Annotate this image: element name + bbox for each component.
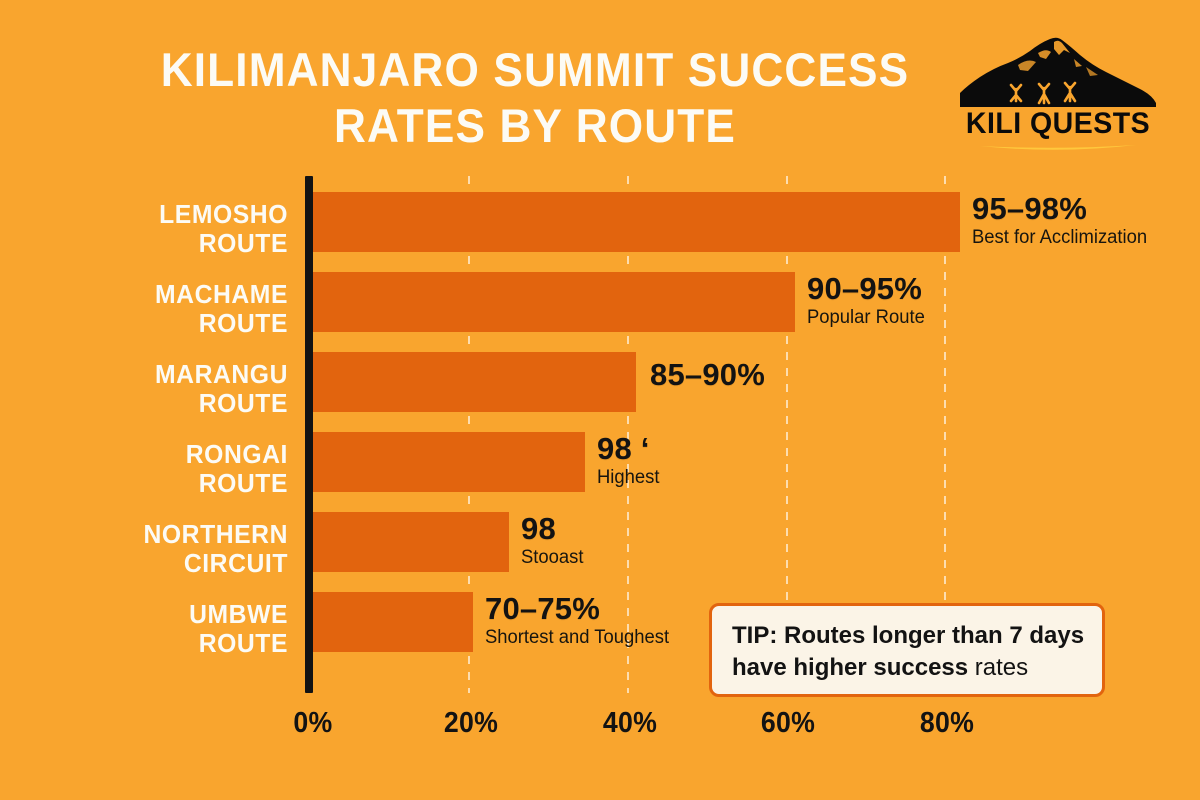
- bar-rongai[interactable]: [313, 432, 585, 492]
- value-sublabel: Popular Route: [807, 306, 925, 329]
- infographic-canvas: KILIMANJARO SUMMIT SUCCESS RATES BY ROUT…: [0, 0, 1200, 800]
- category-label: UMBWE ROUTE: [71, 600, 288, 658]
- value-group: 98 Stooast: [521, 512, 585, 569]
- value-sublabel: Best for Acclimization: [972, 226, 1147, 249]
- bar-machame[interactable]: [313, 272, 795, 332]
- tip-text: TIP: Routes longer than 7 days have high…: [732, 620, 1094, 684]
- value-group: 85–90%: [650, 358, 765, 392]
- xtick-60: 60%: [733, 707, 843, 740]
- value-label: 95–98%: [972, 192, 1153, 226]
- tip-text-tail: rates: [968, 654, 1028, 681]
- bar-marangu[interactable]: [313, 352, 636, 412]
- value-group: 95–98% Best for Acclimization: [972, 192, 1153, 249]
- xtick-40: 40%: [575, 707, 685, 740]
- value-label: 90–95%: [807, 272, 928, 306]
- category-label: MARANGU ROUTE: [71, 360, 288, 418]
- value-label: 85–90%: [650, 358, 765, 392]
- xtick-0: 0%: [258, 707, 368, 740]
- category-label: RONGAI ROUTE: [71, 440, 288, 498]
- category-label: MACHAME ROUTE: [71, 280, 288, 338]
- bar-chart: LEMOSHO ROUTE 95–98% Best for Acclimizat…: [0, 0, 1200, 800]
- value-sublabel: Stooast: [521, 546, 584, 569]
- value-sublabel: Shortest and Toughest: [485, 626, 669, 649]
- xtick-80: 80%: [892, 707, 1002, 740]
- value-group: 70–75% Shortest and Toughest: [485, 592, 675, 649]
- tip-text-strong: TIP: Routes longer than 7 days have high…: [732, 622, 1084, 681]
- tip-callout: TIP: Routes longer than 7 days have high…: [709, 603, 1105, 697]
- category-label: NORTHERN CIRCUIT: [71, 520, 288, 578]
- xtick-20: 20%: [416, 707, 526, 740]
- category-label: LEMOSHO ROUTE: [71, 200, 288, 258]
- value-label: 70–75%: [485, 592, 675, 626]
- value-group: 90–95% Popular Route: [807, 272, 928, 329]
- bar-northern-circuit[interactable]: [313, 512, 509, 572]
- value-label: 98: [521, 512, 585, 546]
- y-axis-line: [305, 176, 313, 693]
- value-sublabel: Highest: [597, 466, 659, 489]
- value-label: 98 ‘: [597, 432, 661, 466]
- value-group: 98 ‘ Highest: [597, 432, 661, 489]
- bar-umbwe[interactable]: [313, 592, 473, 652]
- bar-lemosho[interactable]: [313, 192, 960, 252]
